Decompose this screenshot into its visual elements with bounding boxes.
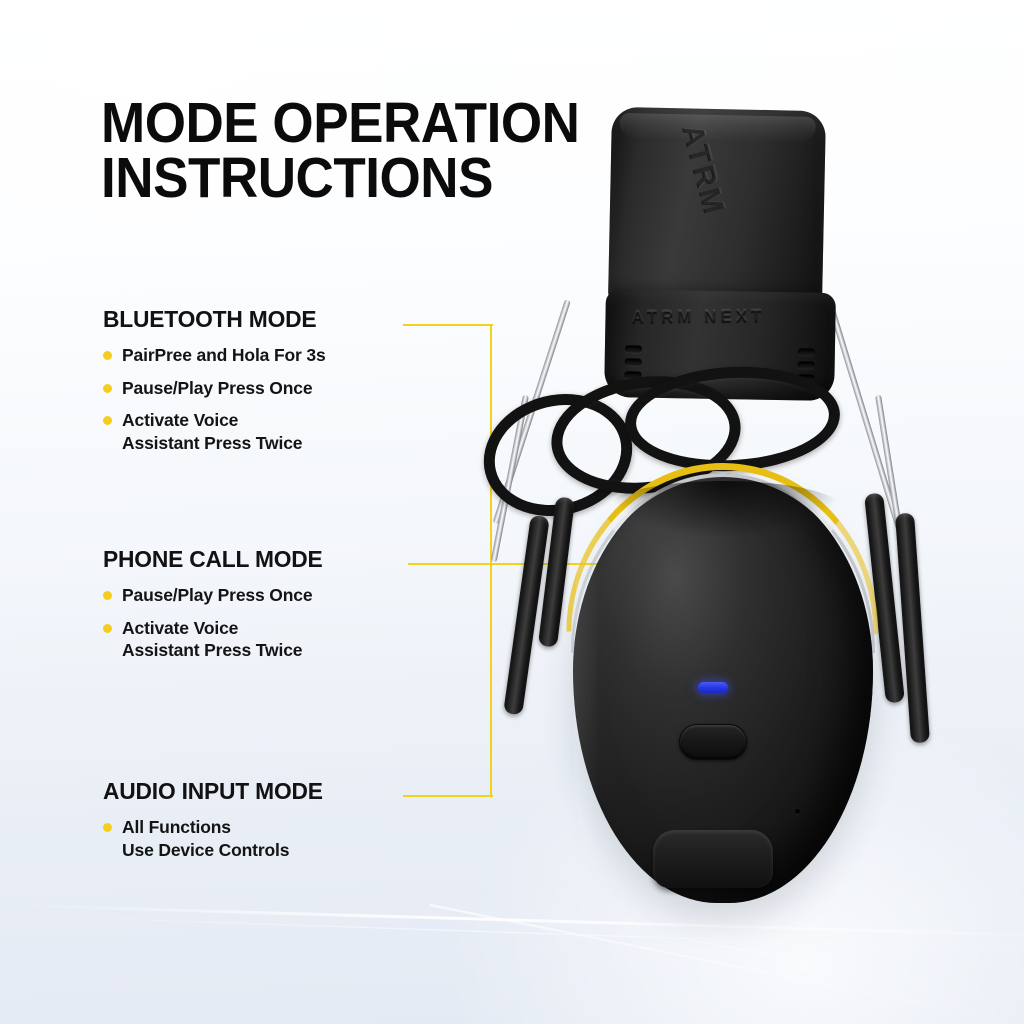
headband-brand-label: ATRM NEXT: [631, 306, 765, 327]
status-led-indicator: [698, 682, 728, 693]
multifunction-button[interactable]: [679, 724, 747, 760]
bullet-dot-icon: [103, 351, 112, 360]
bullet-dot-icon: [103, 384, 112, 393]
list-item: Pause/Play Press Once: [103, 584, 433, 607]
battery-compartment-door: [653, 830, 773, 888]
mode-bullet-text: Pause/Play Press Once: [122, 584, 312, 607]
list-item: Pause/Play Press Once: [103, 377, 433, 400]
product-image-headphones: ATRM ATRM NEXT: [455, 95, 985, 975]
mode-bullet-text: All Functions Use Device Controls: [122, 816, 289, 861]
vent-slot-icon: [798, 348, 815, 355]
mode-bullet-text: Activate Voice Assistant Press Twice: [122, 617, 302, 662]
list-item: All Functions Use Device Controls: [103, 816, 433, 861]
mode-bullet-text: PairPree and Hola For 3s: [122, 344, 326, 367]
list-item: PairPree and Hola For 3s: [103, 344, 433, 367]
bullet-dot-icon: [103, 823, 112, 832]
mode-title-phone-call: PHONE CALL MODE: [103, 546, 423, 573]
ear-cup-top-shadow: [605, 481, 843, 537]
headband-pad-brand-emboss: ATRM: [675, 121, 731, 219]
mode-block-audio-input: AUDIO INPUT MODE All Functions Use Devic…: [103, 778, 433, 871]
mode-bullet-text: Pause/Play Press Once: [122, 377, 312, 400]
infographic-canvas: MODE OPERATION INSTRUCTIONS BLUETOOTH MO…: [0, 0, 1024, 1024]
bullet-dot-icon: [103, 624, 112, 633]
bullet-dot-icon: [103, 591, 112, 600]
mode-title-bluetooth: BLUETOOTH MODE: [103, 306, 423, 333]
vent-slot-icon: [798, 361, 815, 368]
bullet-dot-icon: [103, 416, 112, 425]
mode-block-phone-call: PHONE CALL MODE Pause/Play Press Once Ac…: [103, 546, 433, 672]
vent-slot-icon: [625, 358, 642, 365]
list-item: Activate Voice Assistant Press Twice: [103, 409, 433, 454]
mode-bullet-text: Activate Voice Assistant Press Twice: [122, 409, 302, 454]
vent-slot-icon: [625, 345, 642, 352]
mode-title-audio-input: AUDIO INPUT MODE: [103, 778, 423, 805]
headband-top-pad: ATRM: [608, 107, 826, 306]
ear-cup-edge-highlight: [573, 525, 599, 855]
mode-block-bluetooth: BLUETOOTH MODE PairPree and Hola For 3s …: [103, 306, 433, 464]
microphone-pinhole-icon: [795, 809, 800, 814]
slider-arm-right: [895, 513, 930, 744]
list-item: Activate Voice Assistant Press Twice: [103, 617, 433, 662]
